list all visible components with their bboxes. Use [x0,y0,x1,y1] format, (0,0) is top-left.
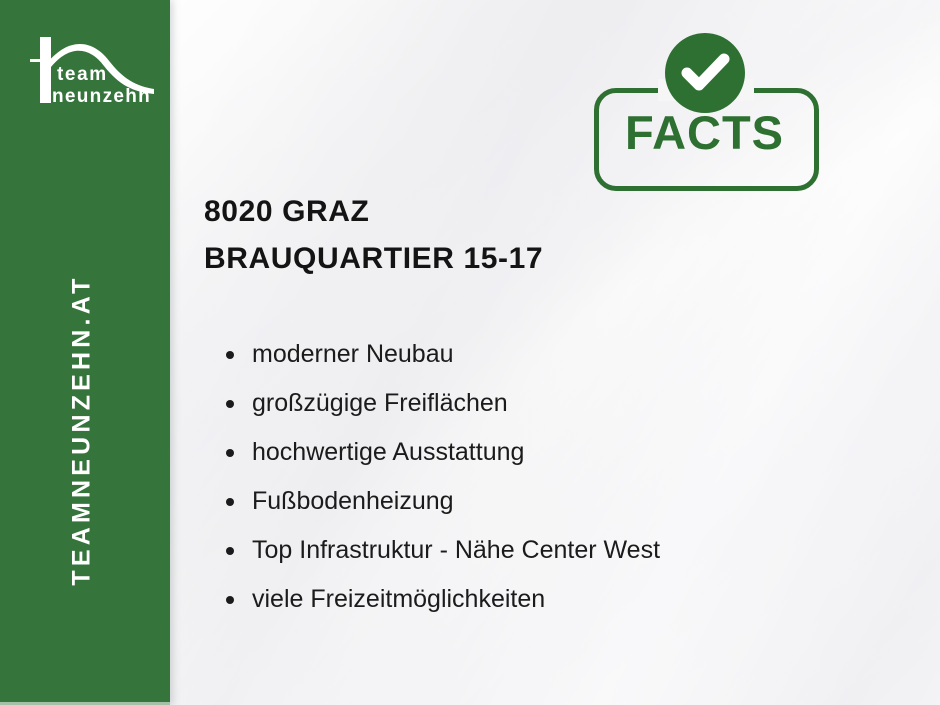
house-roof-logo-icon: team neunzehn [28,34,156,106]
list-item-label: viele Freizeitmöglichkeiten [252,585,545,613]
list-item-label: großzügige Freiflächen [252,389,508,417]
page-title-line-1: 8020 GRAZ [204,188,543,235]
bullet-icon [226,400,234,408]
bullet-icon [226,498,234,506]
facts-slide: team neunzehn TEAMNEUNZEHN.AT FACTS 8020… [0,0,940,705]
check-circle-icon [665,33,745,113]
list-item-label: Top Infrastruktur - Nähe Center West [252,536,660,564]
website-vertical-text: TEAMNEUNZEHN.AT [68,274,97,585]
logo-text-neunzehn: neunzehn [52,86,151,106]
list-item: hochwertige Ausstattung [222,428,660,477]
page-title-line-2: BRAUQUARTIER 15-17 [204,235,543,282]
logo-text-team: team [57,64,108,85]
list-item-label: hochwertige Ausstattung [252,438,524,466]
checkmark-icon [665,33,745,113]
list-item: Top Infrastruktur - Nähe Center West [222,526,660,575]
page-title: 8020 GRAZ BRAUQUARTIER 15-17 [204,188,543,282]
list-item: Fußbodenheizung [222,477,660,526]
list-item: viele Freizeitmöglichkeiten [222,575,660,624]
facts-check-wrapper [665,33,747,115]
facts-badge: FACTS [592,33,820,191]
bullet-icon [226,596,234,604]
bullet-icon [226,351,234,359]
list-item-label: Fußbodenheizung [252,487,454,515]
bullet-icon [226,547,234,555]
brand-sidebar: team neunzehn TEAMNEUNZEHN.AT [0,0,170,705]
bullet-icon [226,449,234,457]
list-item: großzügige Freiflächen [222,379,660,428]
team-neunzehn-logo: team neunzehn [28,34,156,106]
list-item-label: moderner Neubau [252,340,454,368]
facts-list: moderner Neubau großzügige Freiflächen h… [222,330,660,624]
list-item: moderner Neubau [222,330,660,379]
